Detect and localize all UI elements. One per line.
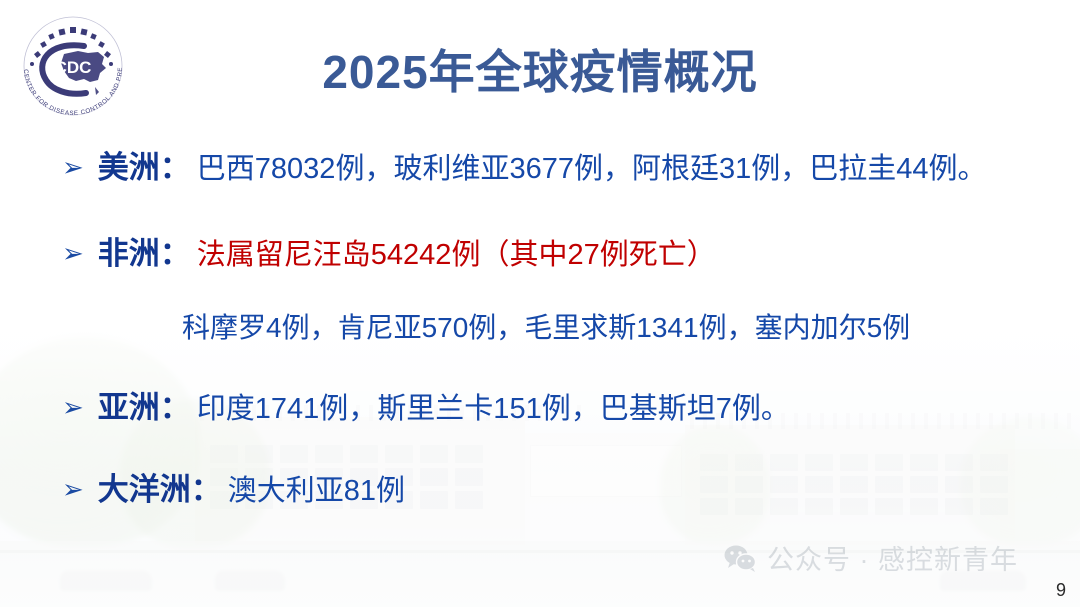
bullet-africa-region: 非洲： xyxy=(98,228,191,273)
page-number: 9 xyxy=(1056,580,1066,601)
bullet-asia-region: 亚洲： xyxy=(98,382,191,427)
photo-tree xyxy=(0,337,200,547)
photo-building-far xyxy=(1000,449,1080,545)
slide-canvas: CDC CHINESE CENTER FOR DISEASE CONTROL A… xyxy=(0,0,1080,607)
bullet-oceania: ➢ 大洋洲： 澳大利亚81例 xyxy=(62,464,405,509)
watermark-text: 公众号 · 感控新青年 xyxy=(767,538,1018,577)
wechat-icon xyxy=(723,543,757,573)
bullet-oceania-region: 大洋洲： xyxy=(98,464,222,509)
bullet-asia-detail: 印度1741例，斯里兰卡151例，巴基斯坦7例。 xyxy=(197,385,790,427)
photo-building-right xyxy=(685,425,1015,545)
bullet-arrow-icon: ➢ xyxy=(62,240,84,266)
photo-ground xyxy=(0,541,1080,607)
bullet-americas: ➢ 美洲： 巴西78032例，玻利维亚3677例，阿根廷31例，巴拉圭44例。 xyxy=(62,142,986,187)
photo-sky xyxy=(0,307,1080,607)
bullet-arrow-icon: ➢ xyxy=(62,394,84,420)
bullet-africa-detail-highlight: 法属留尼汪岛54242例（其中27例死亡） xyxy=(197,231,716,273)
bullet-asia: ➢ 亚洲： 印度1741例，斯里兰卡151例，巴基斯坦7例。 xyxy=(62,382,790,427)
bullet-africa-subline-text: 科摩罗4例，肯尼亚570例，毛里求斯1341例，塞内加尔5例 xyxy=(182,306,910,346)
photo-windows-right xyxy=(700,454,1008,515)
bullet-arrow-icon: ➢ xyxy=(62,154,84,180)
photo-tree xyxy=(660,425,770,545)
bullet-arrow-icon: ➢ xyxy=(62,476,84,502)
watermark: 公众号 · 感控新青年 xyxy=(723,538,1018,577)
bullet-americas-detail: 巴西78032例，玻利维亚3677例，阿根廷31例，巴拉圭44例。 xyxy=(197,145,987,187)
bullet-oceania-detail: 澳大利亚81例 xyxy=(228,467,405,509)
photo-car xyxy=(940,571,1026,591)
photo-building-center xyxy=(525,433,685,545)
photo-car xyxy=(60,571,152,591)
slide-title: 2025年全球疫情概况 xyxy=(0,36,1080,102)
background-photo xyxy=(0,307,1080,607)
photo-car xyxy=(215,571,285,591)
photo-white-wash xyxy=(0,307,1080,607)
bullet-africa-subline: 科摩罗4例，肯尼亚570例，毛里求斯1341例，塞内加尔5例 xyxy=(182,306,910,346)
bullet-africa: ➢ 非洲： 法属留尼汪岛54242例（其中27例死亡） xyxy=(62,228,716,273)
photo-kerb xyxy=(0,550,1080,553)
bullet-americas-region: 美洲： xyxy=(98,142,191,187)
photo-tree xyxy=(960,417,1080,547)
photo-entrance-canopy xyxy=(530,445,682,497)
